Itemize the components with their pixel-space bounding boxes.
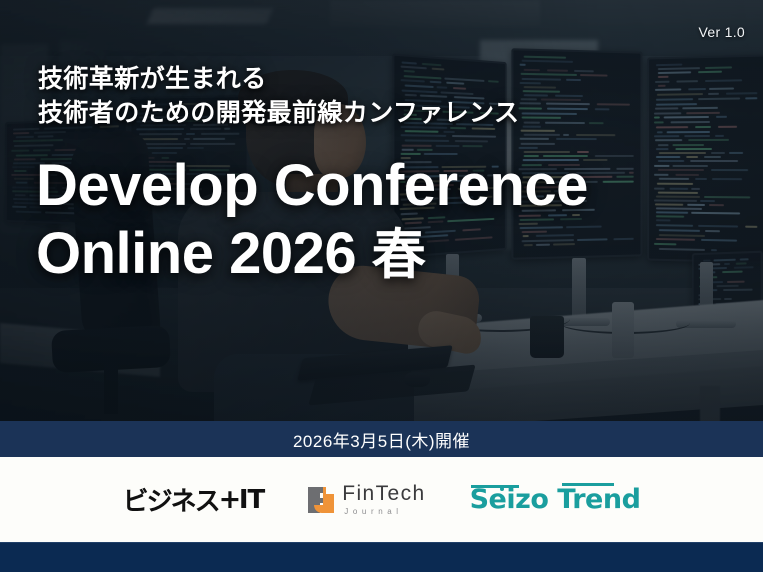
logo-seizo-trend[interactable]: Seizo Trend <box>470 484 641 515</box>
fj-monogram-icon <box>308 487 334 513</box>
fj-monogram-j-foot <box>314 505 334 513</box>
logo-fintech-journal-secondary: Journal <box>344 508 425 516</box>
logo-fintech-journal-primary: FinTech <box>342 483 425 504</box>
event-date-text: 2026年3月5日(木)開催 <box>293 427 470 452</box>
logo-fintech-journal-words: FinTech Journal <box>342 483 425 516</box>
version-label: Ver 1.0 <box>699 24 745 40</box>
page-title: Develop Conference Online 2026 春 <box>36 152 736 289</box>
footer-bar-hairline <box>0 542 763 543</box>
page-title-line-2-main: Online 2026 <box>36 221 356 286</box>
footer-bar <box>0 542 763 572</box>
logo-fintech-journal[interactable]: FinTech Journal <box>308 483 425 516</box>
event-date-band: 2026年3月5日(木)開催 <box>0 421 763 457</box>
logo-business-plus-it-it: IT <box>239 485 264 515</box>
conference-banner: Ver 1.0 技術革新が生まれる 技術者のための開発最前線カンファレンス De… <box>0 0 763 572</box>
hero-lede: 技術革新が生まれる 技術者のための開発最前線カンファレンス <box>38 62 698 130</box>
logo-seizo-trend-text: Seizo Trend <box>470 484 641 515</box>
page-title-season: 春 <box>372 225 426 285</box>
page-title-line-2: Online 2026 春 <box>36 220 736 288</box>
logo-business-plus-it-kana: ビジネス <box>123 481 219 518</box>
logo-business-plus-it[interactable]: ビジネス+IT <box>123 481 265 518</box>
hero-section: Ver 1.0 技術革新が生まれる 技術者のための開発最前線カンファレンス De… <box>0 0 763 421</box>
sponsor-logo-band: ビジネス+IT FinTech Journal Seizo Trend <box>0 457 763 542</box>
hero-lede-line-1: 技術革新が生まれる <box>38 62 698 96</box>
hero-lede-line-2: 技術者のための開発最前線カンファレンス <box>38 96 698 130</box>
plus-icon: + <box>219 486 240 513</box>
page-title-line-1: Develop Conference <box>36 152 736 220</box>
fj-monogram-notch <box>326 487 334 494</box>
